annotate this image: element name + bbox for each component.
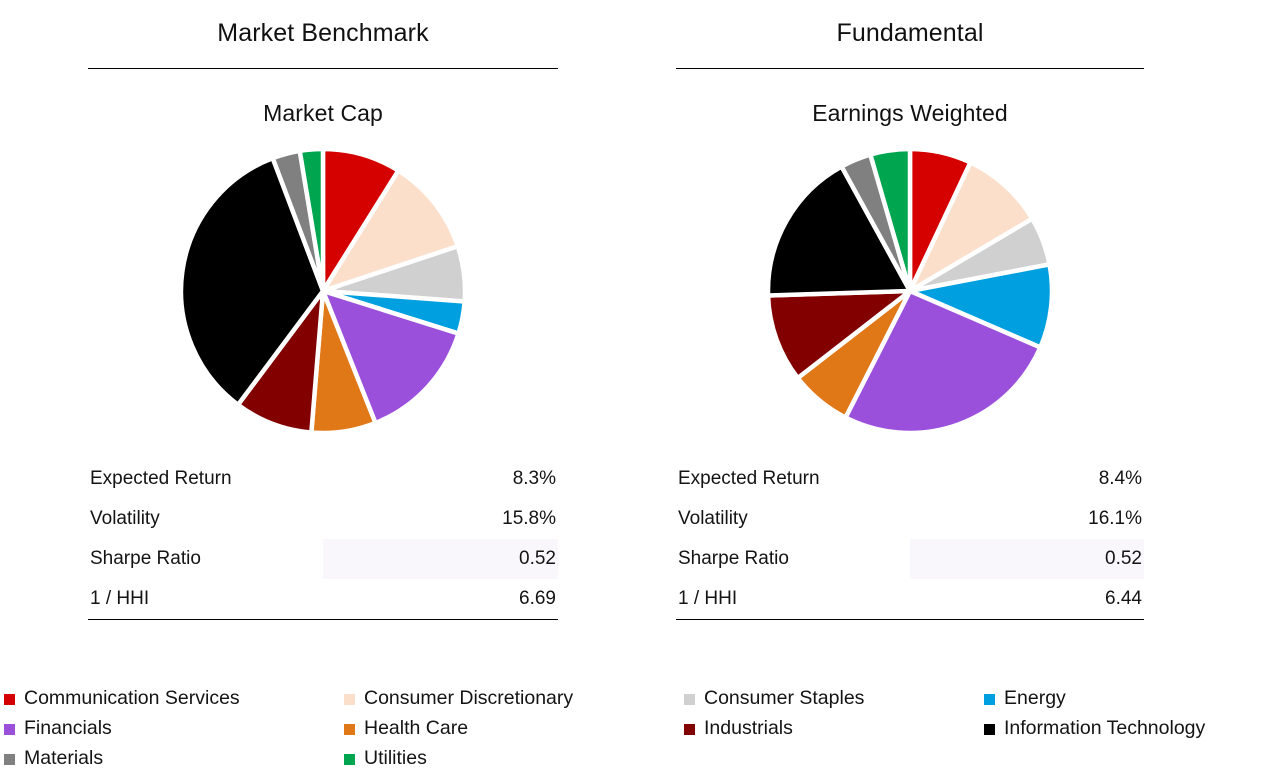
legend-label: Energy bbox=[1004, 689, 1066, 709]
legend-swatch-icon bbox=[984, 694, 995, 705]
legend-item[interactable]: Industrials bbox=[680, 714, 980, 744]
legend-item[interactable]: Communication Services bbox=[0, 684, 340, 714]
legend-label: Consumer Discretionary bbox=[364, 689, 573, 709]
metric-label: Sharpe Ratio bbox=[676, 539, 910, 579]
metrics-row: Expected Return8.3% bbox=[88, 459, 558, 499]
panel-title: Market Benchmark bbox=[88, 0, 558, 46]
metric-label: 1 / HHI bbox=[88, 579, 323, 619]
metrics-row: Expected Return8.4% bbox=[676, 459, 1144, 499]
legend-swatch-icon bbox=[4, 754, 15, 765]
metrics-body: Expected Return8.3%Volatility15.8%Sharpe… bbox=[88, 459, 558, 619]
legend-swatch-icon bbox=[684, 694, 695, 705]
pie-chart-earnings-weighted-wrap bbox=[676, 125, 1144, 436]
metric-label: Expected Return bbox=[676, 459, 910, 499]
legend-item[interactable]: Energy bbox=[980, 684, 1277, 714]
metrics-row: 1 / HHI6.44 bbox=[676, 579, 1144, 619]
metrics-row: Volatility15.8% bbox=[88, 499, 558, 539]
legend-spacer bbox=[980, 744, 1277, 774]
legend-item[interactable]: Materials bbox=[0, 744, 340, 774]
legend-swatch-icon bbox=[4, 694, 15, 705]
metrics-body: Expected Return8.4%Volatility16.1%Sharpe… bbox=[676, 459, 1144, 619]
legend-swatch-icon bbox=[4, 724, 15, 735]
metrics-row: Sharpe Ratio0.52 bbox=[88, 539, 558, 579]
panel-subtitle: Market Cap bbox=[88, 69, 558, 125]
legend-swatch-icon bbox=[344, 754, 355, 765]
metric-label: Expected Return bbox=[88, 459, 323, 499]
legend-swatch-icon bbox=[344, 724, 355, 735]
panel-title: Fundamental bbox=[676, 0, 1144, 46]
pie-chart-market-cap bbox=[178, 146, 468, 436]
metric-label: Volatility bbox=[88, 499, 323, 539]
metric-label: Sharpe Ratio bbox=[88, 539, 323, 579]
legend-label: Materials bbox=[24, 749, 103, 769]
legend-item[interactable]: Health Care bbox=[340, 714, 680, 744]
legend-item[interactable]: Consumer Discretionary bbox=[340, 684, 680, 714]
pie-chart-market-cap-wrap bbox=[88, 125, 558, 436]
panel-subtitle: Earnings Weighted bbox=[676, 69, 1144, 125]
legend-item[interactable]: Information Technology bbox=[980, 714, 1277, 744]
legend-item[interactable]: Consumer Staples bbox=[680, 684, 980, 714]
panels-container: Market Benchmark Market Cap Expected Ret… bbox=[0, 0, 1277, 620]
metric-value: 6.44 bbox=[910, 579, 1144, 619]
metrics-table-earnings-weighted: Expected Return8.4%Volatility16.1%Sharpe… bbox=[676, 459, 1144, 620]
legend-item[interactable]: Financials bbox=[0, 714, 340, 744]
metrics-table-market-cap: Expected Return8.3%Volatility15.8%Sharpe… bbox=[88, 459, 558, 620]
panel-fundamental: Fundamental Earnings Weighted Expected R… bbox=[638, 0, 1276, 620]
pie-chart-earnings-weighted bbox=[765, 146, 1055, 436]
metrics-row: Sharpe Ratio0.52 bbox=[676, 539, 1144, 579]
legend-item[interactable]: Utilities bbox=[340, 744, 680, 774]
legend-swatch-icon bbox=[344, 694, 355, 705]
metric-label: 1 / HHI bbox=[676, 579, 910, 619]
metric-value: 0.52 bbox=[323, 539, 558, 579]
legend-label: Utilities bbox=[364, 749, 427, 769]
chart-legend: Communication ServicesConsumer Discretio… bbox=[0, 684, 1277, 774]
metric-value: 8.4% bbox=[910, 459, 1144, 499]
legend-label: Information Technology bbox=[1004, 719, 1205, 739]
metric-value: 0.52 bbox=[910, 539, 1144, 579]
legend-label: Financials bbox=[24, 719, 112, 739]
legend-label: Communication Services bbox=[24, 689, 240, 709]
metrics-row: Volatility16.1% bbox=[676, 499, 1144, 539]
panel-market-benchmark: Market Benchmark Market Cap Expected Ret… bbox=[0, 0, 638, 620]
metric-value: 6.69 bbox=[323, 579, 558, 619]
legend-label: Consumer Staples bbox=[704, 689, 864, 709]
metric-value: 15.8% bbox=[323, 499, 558, 539]
legend-spacer bbox=[680, 744, 980, 774]
comparison-page: Market Benchmark Market Cap Expected Ret… bbox=[0, 0, 1277, 781]
metric-value: 8.3% bbox=[323, 459, 558, 499]
metrics-row: 1 / HHI6.69 bbox=[88, 579, 558, 619]
legend-swatch-icon bbox=[984, 724, 995, 735]
legend-label: Industrials bbox=[704, 719, 793, 739]
metric-label: Volatility bbox=[676, 499, 910, 539]
legend-label: Health Care bbox=[364, 719, 468, 739]
legend-swatch-icon bbox=[684, 724, 695, 735]
metric-value: 16.1% bbox=[910, 499, 1144, 539]
